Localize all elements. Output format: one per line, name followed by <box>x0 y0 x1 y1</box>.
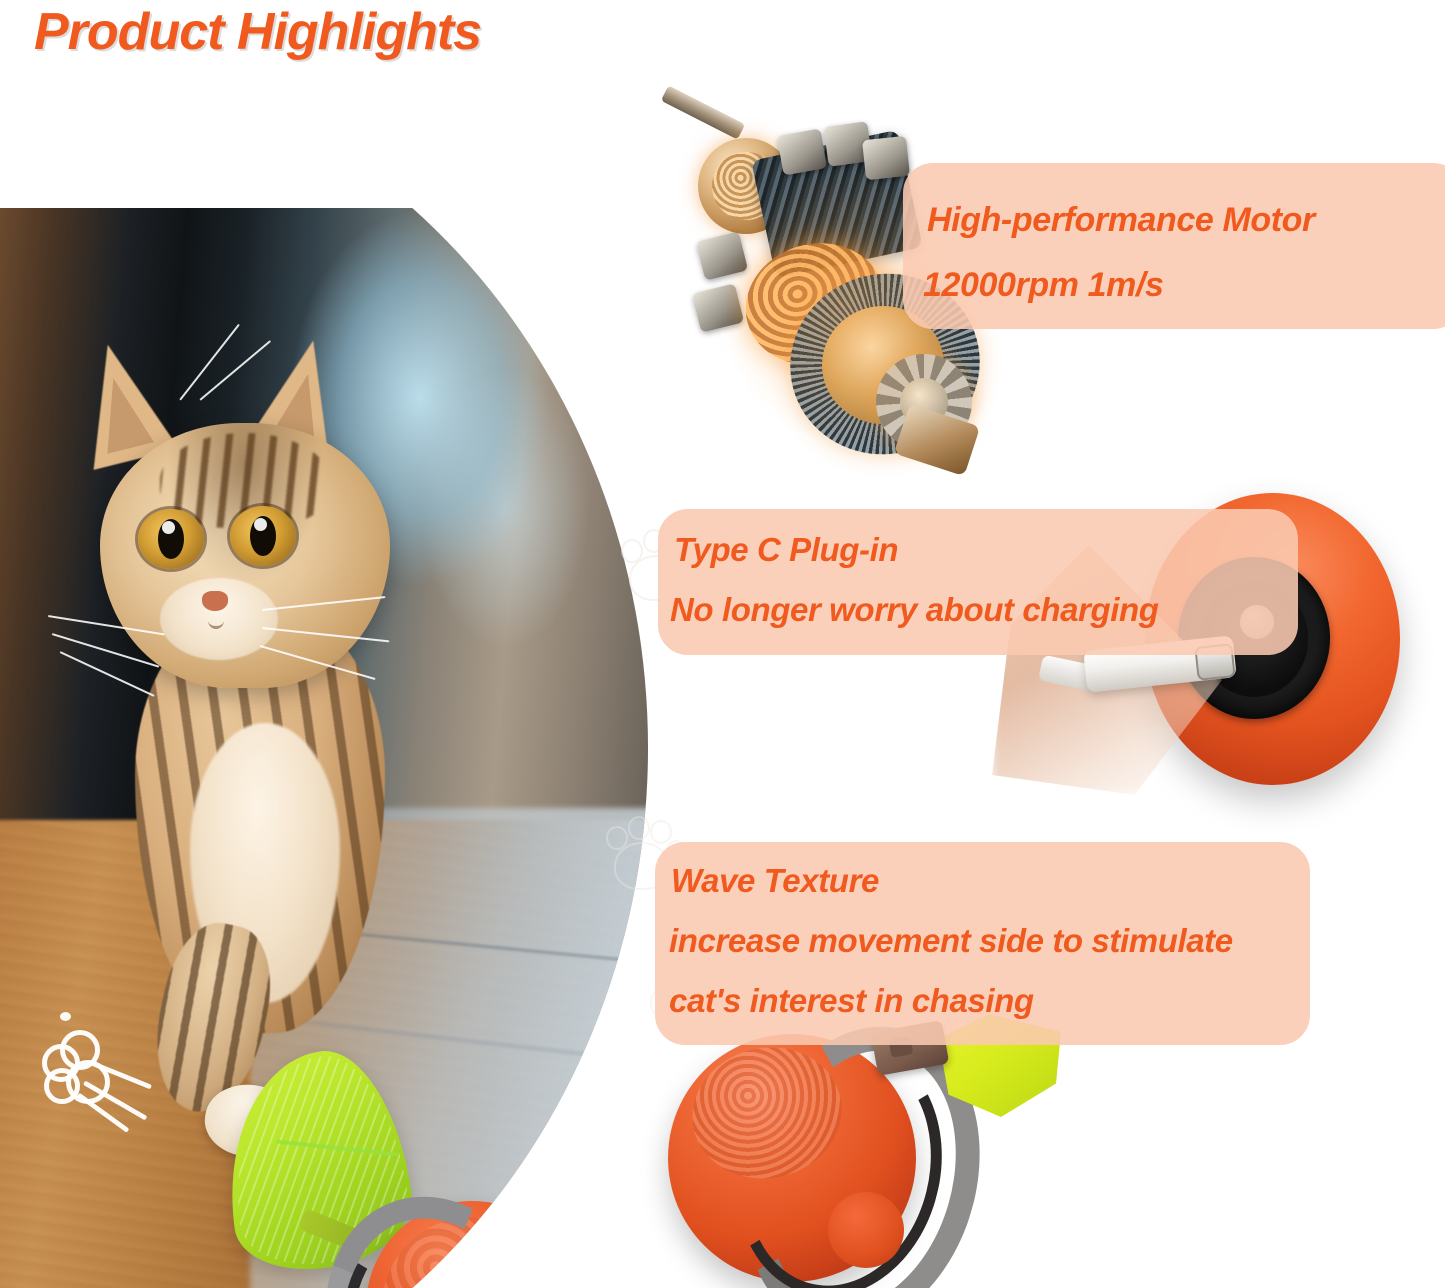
cat-whisker <box>60 651 155 697</box>
motion-puff-icon <box>38 1026 158 1116</box>
page-title: Product Highlights <box>34 6 481 58</box>
motor-magnet <box>692 283 744 332</box>
callout-wave-line-3: cat's interest in chasing <box>669 984 1034 1017</box>
motor-magnet <box>862 136 910 180</box>
callout-motor-line-2: 12000rpm 1m/s <box>923 268 1164 302</box>
motor-magnet <box>696 231 748 280</box>
wave-texture-image <box>650 1020 1070 1288</box>
cat-illustration <box>40 303 460 1063</box>
callout-wave-line-1: Wave Texture <box>671 864 879 897</box>
callout-motor-line-1: High-performance Motor <box>927 203 1315 237</box>
callout-motor: High-performance Motor 12000rpm 1m/s <box>903 163 1445 329</box>
rolling-ball-toy <box>330 1193 580 1288</box>
callout-wave-line-2: increase movement side to stimulate <box>669 924 1233 957</box>
callout-type-c-line-1: Type C Plug-in <box>674 533 898 566</box>
cat-eye-glint-right <box>254 518 267 531</box>
callout-type-c-line-2: No longer worry about charging <box>670 593 1159 626</box>
product-highlights-page: Product Highlights <box>0 0 1445 1288</box>
motor-magnet <box>777 128 827 175</box>
cat-mouth <box>208 612 224 629</box>
callout-wave-texture: Wave Texture increase movement side to s… <box>655 842 1310 1045</box>
motor-shaft <box>661 85 745 139</box>
wave-ball-power-button <box>828 1192 904 1268</box>
cat-eye-glint-left <box>162 521 175 534</box>
callout-type-c: Type C Plug-in No longer worry about cha… <box>658 509 1298 655</box>
cat-nose <box>202 591 228 611</box>
